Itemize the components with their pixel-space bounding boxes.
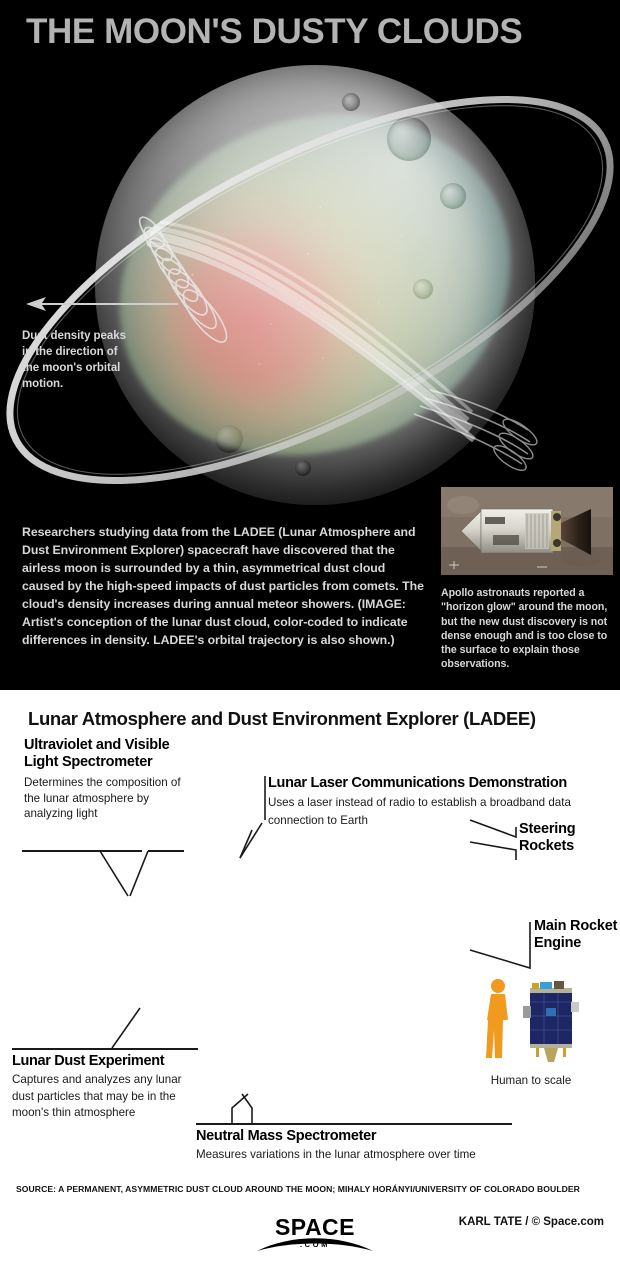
callout-heading: Lunar Dust Experiment: [12, 1053, 200, 1070]
callout-steering-rockets: Steering Rockets: [519, 821, 615, 856]
apollo-csm-photo: [441, 487, 613, 575]
human-scale-label: Human to scale: [487, 1073, 575, 1088]
source-line: SOURCE: A PERMANENT, ASYMMETRIC DUST CLO…: [16, 1184, 606, 1194]
logo-dotcom: .COM: [255, 1240, 375, 1249]
callout-heading: Steering Rockets: [519, 821, 615, 856]
ladee-spacecraft-panel: Lunar Atmosphere and Dust Environment Ex…: [0, 690, 620, 1265]
apollo-photo-caption: Apollo astronauts reported a "horizon gl…: [441, 586, 613, 672]
left-arrow-icon: [26, 296, 178, 312]
callout-neutral-mass-spectrometer: Neutral Mass Spectrometer Measures varia…: [196, 1128, 526, 1164]
callout-body: Measures variations in the lunar atmosph…: [196, 1147, 526, 1163]
moon-dust-cloud-panel: THE MOON'S DUSTY CLOUDS: [0, 0, 620, 690]
infographic-page: THE MOON'S DUSTY CLOUDS: [0, 0, 620, 1265]
callout-heading: Neutral Mass Spectrometer: [196, 1128, 526, 1145]
main-description: Researchers studying data from the LADEE…: [22, 523, 426, 649]
callout-main-rocket-engine: Main Rocket Engine: [534, 918, 618, 953]
callout-lunar-dust-experiment: Lunar Dust Experiment Captures and analy…: [12, 1053, 200, 1121]
logo-wordmark: SPACE: [255, 1214, 375, 1241]
credit-line: KARL TATE / © Space.com: [459, 1216, 604, 1228]
dust-density-note: Dust density peaks in the direction of t…: [22, 329, 126, 392]
callout-rule: [148, 850, 184, 852]
callout-heading: Main Rocket Engine: [534, 918, 618, 953]
callout-rule: [12, 1048, 198, 1050]
callout-ultraviolet-visible-light-spectrometer: Ultraviolet and Visible Light Spectromet…: [24, 737, 194, 822]
callout-heading: Ultraviolet and Visible Light Spectromet…: [24, 737, 194, 772]
callout-heading: Lunar Laser Communications Demonstration: [268, 775, 616, 792]
callout-rule: [22, 850, 142, 852]
callout-rule: [196, 1123, 512, 1125]
space-com-logo[interactable]: SPACE .COM: [255, 1214, 375, 1254]
callout-body: Captures and analyzes any lunar dust par…: [12, 1072, 200, 1121]
callout-body: Determines the composition of the lunar …: [24, 775, 194, 822]
